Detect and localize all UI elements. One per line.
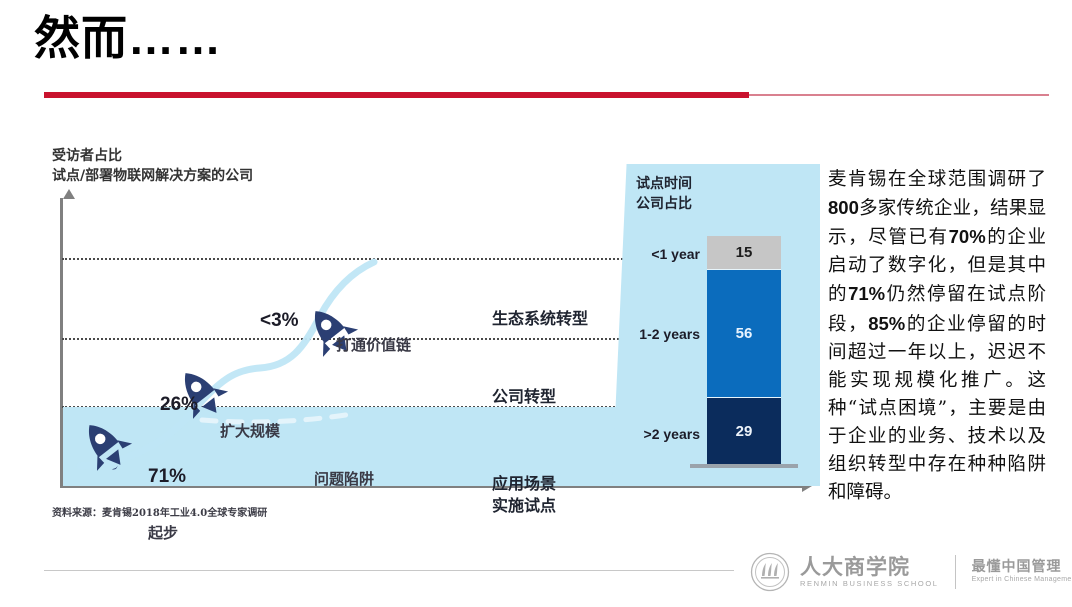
bar-segment-1to2years: 56 (707, 270, 781, 398)
title-divider-thick (44, 92, 749, 98)
bar-category-label-lt1year: <1 year (628, 246, 700, 262)
bar-panel-caption: 试点时间 公司占比 (636, 174, 692, 215)
footer-logo-separator (955, 555, 956, 589)
stage-note-value-chain: 打通价值链 (336, 334, 411, 355)
stage-title-pilot: 应用场景 实施试点 (492, 473, 556, 518)
value-label-start: 71% (148, 466, 186, 488)
value-label-scale: 26% (160, 394, 198, 416)
footer-logo-en: RENMIN BUSINESS SCHOOL (800, 579, 939, 588)
bar-category-label-gt2years: >2 years (628, 426, 700, 442)
stage-title-ecosystem: 生态系统转型 (492, 308, 588, 330)
chart-axis-caption: 受访者占比 试点/部署物联网解决方案的公司 (52, 146, 253, 187)
stage-note-pitfall: 问题陷阱 (314, 468, 374, 489)
bar-baseline (690, 464, 798, 468)
footer-logo-cn: 人大商学院 (800, 556, 939, 579)
chart-axis-caption-line1: 受访者占比 (52, 146, 253, 166)
footer-tagline: 最懂中国管理 Expert in Chinese Management (972, 559, 1072, 584)
bar-segment-lt1year: 15 (707, 236, 781, 270)
y-axis-arrow-icon (63, 189, 75, 199)
bar-panel-caption-line2: 公司占比 (636, 194, 692, 214)
rocket-icon-start (74, 414, 136, 476)
stage-note-start: 起步 (148, 522, 178, 543)
chart-axis-caption-line2: 试点/部署物联网解决方案的公司 (52, 166, 253, 186)
commentary-paragraph: 麦肯锡在全球范围调研了800多家传统企业，结果显示，尽管已有70%的企业启动了数… (828, 166, 1046, 507)
chart-source-note: 资料来源：麦肯锡2018年工业4.0全球专家调研 (52, 504, 267, 519)
title-divider-thin (749, 94, 1049, 96)
stage-title-company: 公司转型 (492, 386, 556, 408)
title-divider (44, 92, 1049, 98)
stacked-bar: 15 56 29 (707, 236, 781, 464)
pilot-duration-panel: 试点时间 公司占比 <1 year 1-2 years >2 years 15 … (612, 164, 820, 486)
bar-category-label-1to2years: 1-2 years (628, 326, 700, 342)
footer-divider (44, 570, 734, 571)
footer-tagline-en: Expert in Chinese Management (972, 576, 1072, 584)
university-seal-icon (750, 552, 790, 592)
value-label-ecosystem: <3% (260, 310, 299, 332)
footer-logo: 人大商学院 RENMIN BUSINESS SCHOOL 最懂中国管理 Expe… (750, 549, 1072, 595)
footer-logo-text: 人大商学院 RENMIN BUSINESS SCHOOL (800, 556, 939, 588)
stage-title-pilot-line1: 应用场景 (492, 473, 556, 495)
stage-title-pilot-line2: 实施试点 (492, 495, 556, 517)
page-title: 然而…… (34, 12, 222, 65)
bar-panel-caption-line1: 试点时间 (636, 174, 692, 194)
stage-note-scale: 扩大规模 (220, 420, 280, 441)
bar-segment-gt2years: 29 (707, 398, 781, 464)
footer-tagline-cn: 最懂中国管理 (972, 559, 1072, 576)
